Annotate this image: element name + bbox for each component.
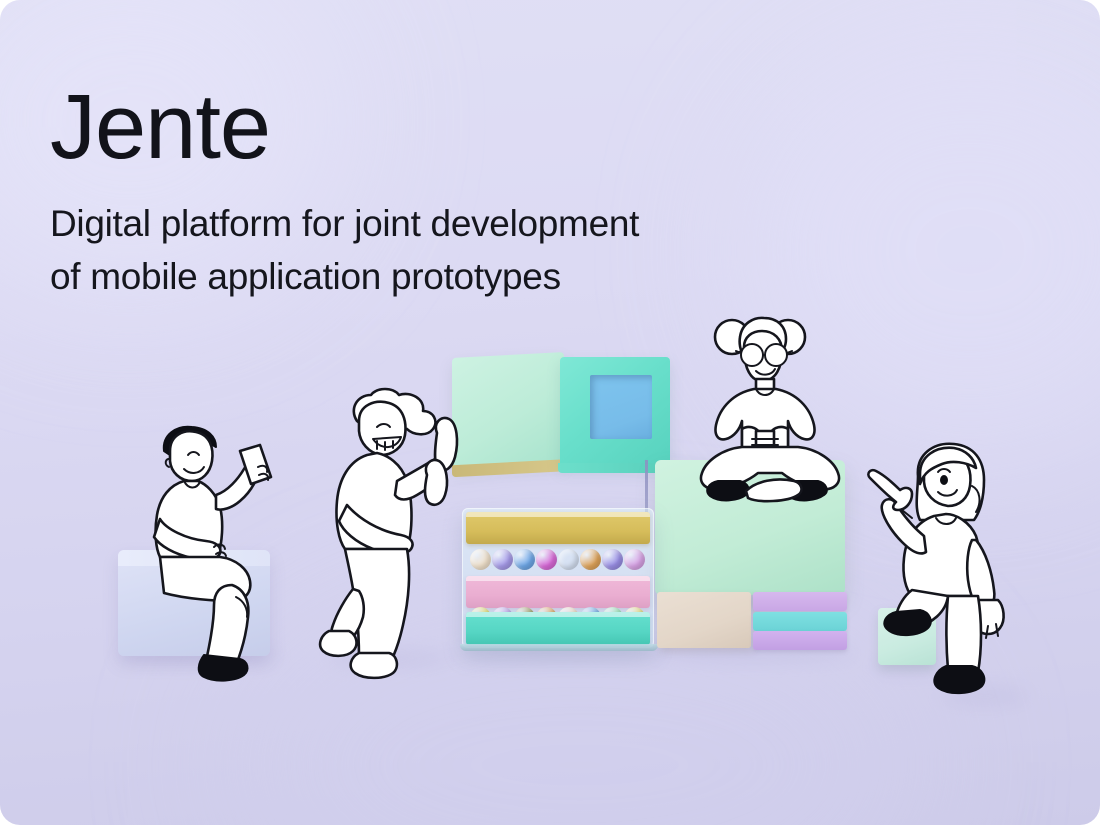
cabinet-ball	[514, 549, 535, 570]
character-crosslegged-sitter	[690, 315, 850, 515]
headline-block: Jente Digital platform for joint develop…	[50, 82, 870, 303]
cabinet-ball	[558, 549, 579, 570]
subtitle: Digital platform for joint development o…	[50, 198, 790, 303]
character-walker	[315, 385, 495, 675]
block-slab-purple-bottom	[753, 631, 847, 650]
subtitle-line-1: Digital platform for joint development	[50, 203, 639, 244]
block-slab-purple-top	[753, 592, 847, 611]
illustration-scene	[0, 300, 1100, 720]
cabinet-ball	[580, 549, 601, 570]
poster-canvas: Jente Digital platform for joint develop…	[0, 0, 1100, 825]
cabinet-ball	[624, 549, 645, 570]
block-slab-cyan	[753, 612, 847, 631]
teal-frame-inner-panel	[590, 375, 652, 439]
cabinet-ball	[536, 549, 557, 570]
cabinet-ball	[492, 549, 513, 570]
block-beige-cube	[657, 592, 751, 648]
subtitle-line-2: of mobile application prototypes	[50, 256, 561, 297]
ball-row-upper	[470, 546, 648, 572]
cabinet-ball	[602, 549, 623, 570]
brand-title: Jente	[50, 82, 870, 172]
block-top-teal-frame	[560, 357, 670, 467]
character-pointer	[862, 440, 1042, 690]
character-phone-sitter	[140, 415, 300, 675]
